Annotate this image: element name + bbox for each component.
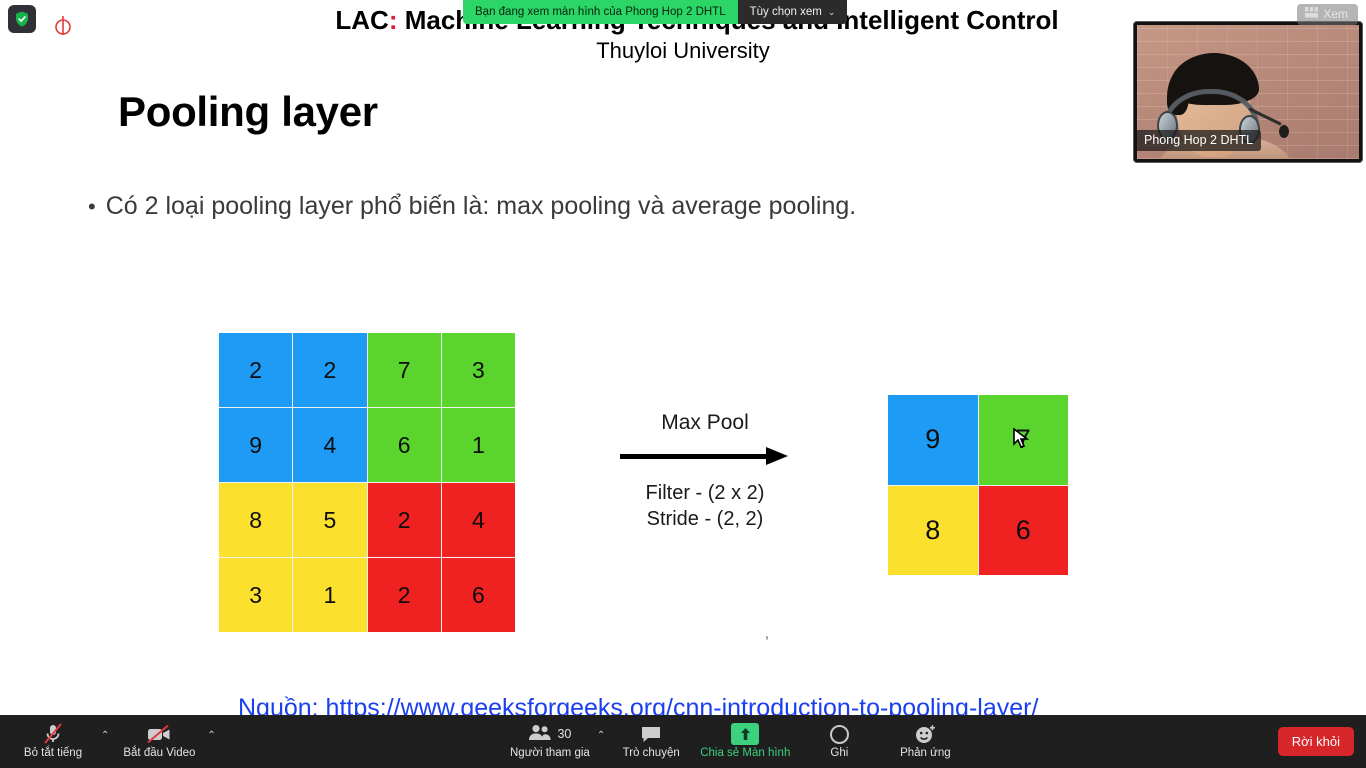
output-matrix: 9786 — [888, 395, 1068, 575]
start-video-label: Bắt đầu Video — [123, 747, 195, 760]
unmute-button[interactable]: Bỏ tắt tiếng — [10, 715, 96, 768]
participants-count: 30 — [557, 727, 571, 741]
matrix-cell: 2 — [368, 558, 441, 632]
share-screen-icon — [731, 723, 759, 745]
start-video-button[interactable]: Bắt đầu Video — [116, 715, 202, 768]
participant-name-label: Phong Hop 2 DHTL — [1137, 130, 1261, 151]
bullet-marker-icon: • — [88, 196, 96, 218]
course-code: LAC — [335, 5, 388, 35]
matrix-cell: 8 — [219, 483, 292, 557]
meeting-toolbar: Bỏ tắt tiếng ⌃ Bắt đầu Video ⌃ — [0, 715, 1366, 768]
matrix-cell: 6 — [979, 486, 1069, 576]
self-view-video-tile[interactable]: Phong Hop 2 DHTL — [1134, 22, 1362, 162]
source-link[interactable]: Nguồn: https://www.geeksforgeeks.org/cnn… — [238, 694, 1038, 715]
matrix-cell: 7 — [368, 333, 441, 407]
slide-artifact-mark: , — [765, 625, 769, 641]
operation-label: Max Pool — [600, 408, 810, 438]
view-layout-label: Xem — [1323, 7, 1348, 21]
page-title: Pooling layer — [118, 88, 378, 136]
video-options-caret-icon[interactable]: ⌃ — [204, 729, 218, 743]
mouse-cursor-icon — [1013, 428, 1029, 450]
chat-label: Trò chuyện — [623, 747, 680, 760]
view-options-button[interactable]: Tùy chọn xem ⌄ — [738, 0, 848, 24]
matrix-cell: 9 — [888, 395, 978, 485]
matrix-cell: 3 — [442, 333, 515, 407]
filter-label: Filter - (2 x 2) — [600, 480, 810, 506]
course-code-colon: : — [389, 5, 398, 35]
grid-view-icon — [1305, 7, 1318, 21]
chat-button[interactable]: Trò chuyện — [608, 715, 694, 768]
chat-bubble-icon — [640, 723, 662, 745]
bullet-text: Có 2 loại pooling layer phổ biến là: max… — [106, 192, 857, 221]
source-link-text: Nguồn: https://www.geeksforgeeks.org/cnn… — [238, 694, 1038, 715]
lac-logo-mark — [52, 8, 74, 30]
microphone-muted-icon — [41, 723, 65, 745]
view-options-label: Tùy chọn xem — [750, 6, 822, 18]
view-layout-button[interactable]: Xem — [1297, 4, 1358, 25]
max-pool-operation-annotation: Max Pool Filter - (2 x 2) Stride - (2, 2… — [600, 408, 810, 532]
participants-button[interactable]: 30 Người tham gia — [504, 715, 596, 768]
video-off-icon — [146, 723, 172, 745]
matrix-cell: 6 — [442, 558, 515, 632]
input-matrix: 2273946185243126 — [219, 333, 515, 632]
unmute-label: Bỏ tắt tiếng — [24, 747, 82, 760]
share-status-text: Bạn đang xem màn hình của Phong Hop 2 DH… — [463, 0, 738, 24]
leave-meeting-button[interactable]: Rời khỏi — [1278, 727, 1354, 756]
participants-icon — [528, 724, 552, 744]
record-icon — [830, 725, 849, 744]
audio-options-caret-icon[interactable]: ⌃ — [98, 729, 112, 743]
matrix-cell: 2 — [368, 483, 441, 557]
matrix-cell: 1 — [293, 558, 366, 632]
matrix-cell: 4 — [442, 483, 515, 557]
participants-options-caret-icon[interactable]: ⌃ — [594, 729, 608, 743]
reactions-icon — [914, 723, 937, 745]
share-screen-button[interactable]: Chia sẻ Màn hình — [694, 715, 796, 768]
record-label: Ghi — [830, 747, 848, 760]
matrix-cell: 4 — [293, 408, 366, 482]
matrix-cell: 5 — [293, 483, 366, 557]
bullet-list-item: • Có 2 loại pooling layer phổ biến là: m… — [88, 192, 856, 221]
share-screen-label: Chia sẻ Màn hình — [700, 747, 790, 760]
chevron-down-icon: ⌄ — [828, 7, 836, 18]
participants-label: Người tham gia — [510, 747, 590, 760]
matrix-cell: 2 — [293, 333, 366, 407]
matrix-cell: 9 — [219, 408, 292, 482]
stride-label: Stride - (2, 2) — [600, 506, 810, 532]
shield-check-icon — [8, 5, 36, 33]
reactions-label: Phản ứng — [900, 747, 951, 760]
matrix-cell: 1 — [442, 408, 515, 482]
zoom-screen-share-window: LAC: Machine Learning Techniques and Int… — [0, 0, 1366, 768]
screen-share-banner: Bạn đang xem màn hình của Phong Hop 2 DH… — [463, 0, 847, 24]
reactions-button[interactable]: Phản ứng — [882, 715, 968, 768]
matrix-cell: 2 — [219, 333, 292, 407]
record-button[interactable]: Ghi — [796, 715, 882, 768]
matrix-cell: 6 — [368, 408, 441, 482]
matrix-cell: 8 — [888, 486, 978, 576]
matrix-cell: 3 — [219, 558, 292, 632]
right-arrow-icon — [620, 446, 790, 466]
